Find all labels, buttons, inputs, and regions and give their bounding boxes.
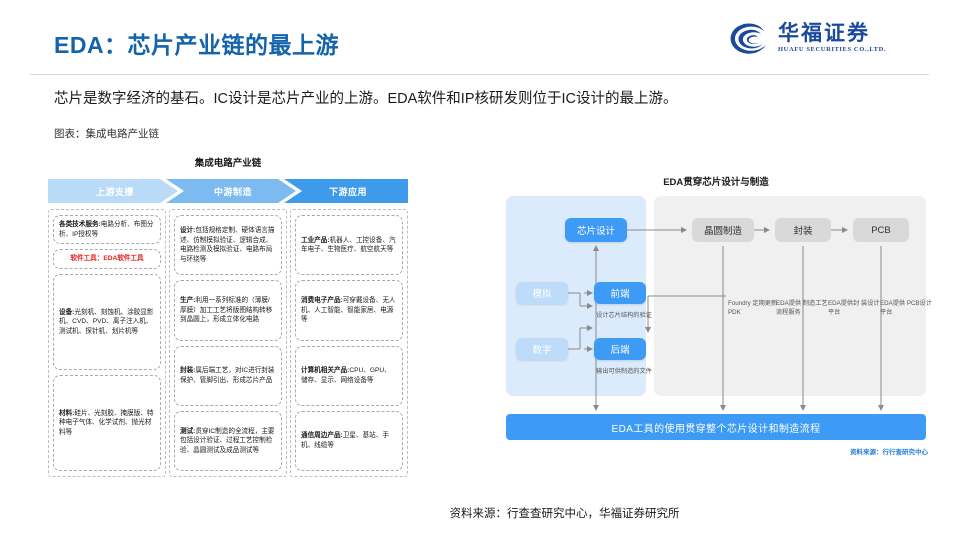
- chain-stage-midstream: 中游制造: [166, 179, 296, 203]
- chain-cell-body: 包括规格定制、硬体语言描述、仿制模拟验证、逻辑合成、电路检测及模拟验证、电路布局…: [180, 227, 275, 263]
- slide: EDA：芯片产业链的最上游 华福证券 HUAFU SECURITIES CO.,…: [0, 0, 959, 539]
- chain-column-midstream: 设计:包括规格定制、硬体语言描述、仿制模拟验证、逻辑合成、电路检测及模拟验证、电…: [169, 209, 287, 477]
- chain-stage-label: 中游制造: [214, 185, 252, 198]
- node-front-end[interactable]: 前端: [594, 282, 646, 304]
- chain-cell: 测试:贯穿IC制造的全流程，主要包括设计验证、过程工艺控制检验、晶圆测试及成品测…: [174, 411, 282, 471]
- chain-stage-label: 下游应用: [329, 185, 367, 198]
- footer-source: 资料来源：行查查研究中心，华福证券研究所: [450, 505, 680, 521]
- chain-cell-title: 设备:: [59, 309, 74, 316]
- chain-cell: 各类技术服务:电路分析、布图分析、IP授权等: [53, 215, 161, 244]
- caption-pcb-platform: EDA提供 PCB设计 平台: [880, 300, 932, 318]
- node-wafer-fab[interactable]: 晶圆制造: [692, 218, 754, 242]
- logo-name-cn: 华福证券: [778, 23, 886, 44]
- caption-output-files: 输出可供制造的文件: [582, 368, 666, 376]
- ic-chain-title: 集成电路产业链: [48, 155, 408, 169]
- chain-cell: 工业产品:机器人、工控设备、汽车电子、生物医疗、航空航天等: [295, 215, 403, 275]
- chain-column-downstream: 工业产品:机器人、工控设备、汽车电子、生物医疗、航空航天等 消费电子产品:可穿戴…: [290, 209, 408, 477]
- chain-cell: 生产:利用一系列标准的（薄膜/厚膜）加工工艺将版图结构转移到晶圆上，形成立体化电…: [174, 280, 282, 340]
- chain-cell: 通信周边产品:卫星、基站、手机、线缆等: [295, 411, 403, 471]
- caption-design-verification: 设计芯片结构的验证: [584, 312, 664, 320]
- eda-flow-figure: EDA贯穿芯片设计与制造: [498, 152, 934, 472]
- caption-foundry-pdk: Foundry 定期更新 PDK: [728, 300, 780, 318]
- chain-cell-title: 测试:: [180, 428, 195, 435]
- chain-column-upstream: 各类技术服务:电路分析、布图分析、IP授权等 软件工具：EDA软件工具 设备:光…: [48, 209, 166, 477]
- huafu-logo-icon: [729, 22, 769, 55]
- node-chip-design[interactable]: 芯片设计: [565, 218, 627, 242]
- chain-stage-downstream: 下游应用: [284, 179, 408, 203]
- logo-name-en: HUAFU SECURITIES CO.,LTD.: [778, 47, 886, 54]
- chain-cell-body: 光刻机、刻蚀机、涂胶显影机、CVD、PVD、离子注入机、测试机、探针机、划片机等: [59, 309, 154, 335]
- logo-text: 华福证券 HUAFU SECURITIES CO.,LTD.: [778, 23, 886, 54]
- chain-cell-eda-highlight: 软件工具：EDA软件工具: [53, 249, 161, 269]
- caption-fab-service: EDA提供 制造工艺 流程服务: [776, 300, 828, 318]
- eda-summary-bar: EDA工具的使用贯穿整个芯片设计和制造流程: [506, 414, 926, 440]
- chain-cell: 材料:硅片、光刻胶、掩膜版、特种电子气体、化学试剂、抛光材料等: [53, 375, 161, 471]
- node-back-end[interactable]: 后端: [594, 338, 646, 360]
- chain-cell: 消费电子产品:可穿戴设备、无人机、人工智能、智能家居、电源等: [295, 280, 403, 340]
- chain-cell-body: 贯穿IC制造的全流程，主要包括设计验证、过程工艺控制检验、晶圆测试及成品测试等: [180, 428, 275, 454]
- chain-cell: 计算机相关产品:CPU、GPU、储存、显示、网络设备等: [295, 346, 403, 406]
- chain-cell-title: 设计:: [180, 227, 195, 234]
- chain-cell: 设备:光刻机、刻蚀机、涂胶显影机、CVD、PVD、离子注入机、测试机、探针机、划…: [53, 274, 161, 370]
- chain-cell-title: 工业产品:: [301, 237, 330, 244]
- chain-cell-title: 材料:: [59, 410, 74, 417]
- chain-cell-title: 计算机相关产品:: [301, 367, 349, 374]
- node-analog[interactable]: 模拟: [516, 282, 568, 304]
- node-digital[interactable]: 数字: [516, 338, 568, 360]
- node-packaging[interactable]: 封装: [775, 218, 831, 242]
- lead-paragraph: 芯片是数字经济的基石。IC设计是芯片产业的上游。EDA软件和IP核研发则位于IC…: [54, 89, 914, 111]
- chain-stage-label: 上游支撑: [96, 185, 134, 198]
- chain-cell-body: 软件工具：EDA软件工具: [70, 254, 143, 264]
- chain-cell-title: 各类技术服务:: [59, 221, 101, 228]
- eda-flow-diagram: 芯片设计 模拟 数字 前端 后端 晶圆制造 封装 PCB 设计芯片结构的验证 输…: [498, 196, 934, 466]
- chain-cell-title: 生产:: [180, 297, 195, 304]
- chain-stage-upstream: 上游支撑: [48, 179, 178, 203]
- figure-caption: 图表：集成电路产业链: [54, 126, 159, 141]
- chain-cell-title: 消费电子产品:: [301, 297, 343, 304]
- chain-cell: 设计:包括规格定制、硬体语言描述、仿制模拟验证、逻辑合成、电路检测及模拟验证、电…: [174, 215, 282, 275]
- chain-cell: 封装:属后端工艺，对IC进行封装保护、管脚引出、形成芯片产品: [174, 346, 282, 406]
- eda-flow-title: EDA贯穿芯片设计与制造: [498, 152, 934, 188]
- page-title: EDA：芯片产业链的最上游: [54, 26, 339, 60]
- caption-package-platform: EDA提供封 装设计平台: [828, 300, 880, 318]
- header-divider: [30, 74, 929, 75]
- slide-footer: 资料来源：行查查研究中心，华福证券研究所: [0, 505, 959, 521]
- chain-cell-body: 硅片、光刻胶、掩膜版、特种电子气体、化学试剂、抛光材料等: [59, 410, 154, 436]
- eda-figure-source: 资料来源：行行查研究中心: [850, 446, 928, 456]
- chain-cell-title: 通信周边产品:: [301, 432, 343, 439]
- chain-stage-bar: 上游支撑 中游制造 下游应用: [48, 179, 408, 203]
- chain-cell-body: 属后端工艺，对IC进行封装保护、管脚引出、形成芯片产品: [180, 367, 275, 384]
- ic-chain-figure: 集成电路产业链 上游支撑 中游制造 下游应用 各类技术服务:电路分析、布图分析、…: [48, 152, 408, 462]
- chain-cell-title: 封装:: [180, 367, 195, 374]
- slide-header: EDA：芯片产业链的最上游 华福证券 HUAFU SECURITIES CO.,…: [0, 0, 959, 74]
- company-logo: 华福证券 HUAFU SECURITIES CO.,LTD.: [729, 22, 886, 55]
- chain-columns: 各类技术服务:电路分析、布图分析、IP授权等 软件工具：EDA软件工具 设备:光…: [48, 209, 408, 477]
- node-pcb[interactable]: PCB: [853, 218, 909, 242]
